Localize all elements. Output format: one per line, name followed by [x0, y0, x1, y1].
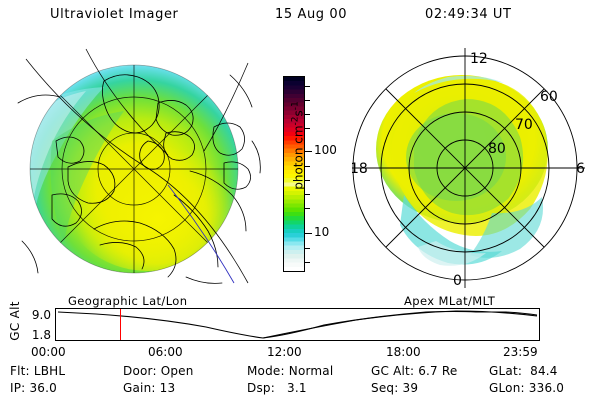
mlat-label-80: 80 [488, 141, 506, 157]
orbit-ytick-top: 9.0 [17, 308, 51, 322]
status-seq: Seq: 39 [371, 381, 418, 395]
colorbar-major-tick [305, 233, 312, 234]
status-gain: Gain: 13 [123, 381, 175, 395]
current-time-marker [120, 309, 121, 340]
colorbar-tick-label-100: 100 [314, 144, 337, 156]
colorbar[interactable]: photon cm-2s-1 [283, 76, 307, 272]
colorbar-minor-tick [305, 248, 310, 249]
colorbar-minor-tick [305, 208, 310, 209]
status-dsp: Dsp: 3.1 [247, 381, 307, 395]
status-glon: GLon: 336.0 [489, 381, 564, 395]
apex-aurora-polar-plot: 60 70 80 12 6 0 18 [352, 45, 592, 295]
geographic-image-panel[interactable] [8, 45, 270, 295]
page-title: Ultraviolet Imager [50, 7, 179, 22]
apex-polar-panel[interactable]: 60 70 80 12 6 0 18 [352, 45, 592, 295]
mlat-mlt-grid [352, 48, 585, 288]
orbit-xtick-3: 18:00 [386, 345, 421, 359]
colorbar-exp2: -1 [291, 101, 301, 110]
orbit-xtick-0: 00:00 [31, 345, 66, 359]
orbit-xtick-1: 06:00 [148, 345, 183, 359]
geographic-aurora-image [8, 45, 270, 295]
colorbar-axis-label: photon cm-2s-1 [291, 71, 306, 221]
orbit-altitude-strip[interactable]: GC Alt 9.0 1.8 00:00 06:00 12:00 18:00 2… [0, 300, 600, 360]
latlon-graticule [22, 55, 246, 283]
mlt-label-18: 18 [352, 161, 368, 177]
colorbar-minor-tick [305, 86, 310, 87]
gc-altitude-curve [56, 309, 539, 340]
orbit-ytick-bottom: 1.8 [17, 328, 51, 342]
status-mode: Mode: Normal [247, 364, 333, 378]
colorbar-unit-mid: s [292, 110, 306, 116]
colorbar-tick-label-10: 10 [314, 226, 329, 238]
status-flt: Flt: LBHL [10, 364, 65, 378]
mlat-label-70: 70 [515, 117, 533, 133]
observation-date: 15 Aug 00 [275, 7, 347, 22]
colorbar-minor-tick [305, 100, 310, 101]
colorbar-minor-tick [305, 194, 310, 195]
mlt-label-0: 0 [453, 273, 462, 289]
colorbar-minor-tick [305, 180, 310, 181]
mlt-label-6: 6 [576, 161, 585, 177]
status-glat: GLat: 84.4 [489, 364, 558, 378]
orbit-xtick-4: 23:59 [503, 345, 538, 359]
colorbar-minor-tick [305, 262, 310, 263]
status-footer: Flt: LBHL Door: Open Mode: Normal GC Alt… [0, 363, 600, 400]
colorbar-unit-text: photon cm [292, 125, 306, 189]
colorbar-exp1: -2 [291, 116, 301, 125]
colorbar-major-tick [305, 151, 312, 152]
mlt-label-12: 12 [470, 51, 488, 67]
status-gc-alt: GC Alt: 6.7 Re [371, 364, 457, 378]
status-ip: IP: 36.0 [10, 381, 57, 395]
mlat-label-60: 60 [540, 89, 558, 105]
colorbar-minor-tick [305, 114, 310, 115]
orbit-plot-box [55, 308, 540, 341]
colorbar-minor-tick [305, 128, 310, 129]
colorbar-minor-tick [305, 166, 310, 167]
status-door: Door: Open [123, 364, 194, 378]
ultraviolet-imager-display: Ultraviolet Imager 15 Aug 00 02:49:34 UT [0, 0, 600, 400]
orbit-xtick-2: 12:00 [267, 345, 302, 359]
observation-time: 02:49:34 UT [425, 7, 512, 22]
